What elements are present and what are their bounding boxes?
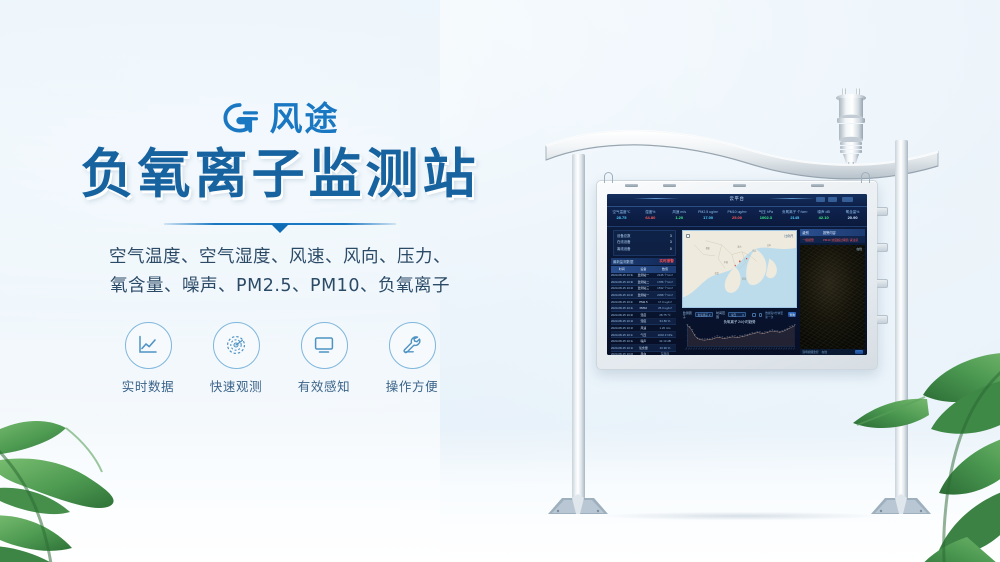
svg-text:07:00: 07:00 <box>720 347 723 351</box>
cell-time: 2023-08-15 10:32:10 <box>611 273 633 277</box>
cell-device: 氧含量 <box>633 346 655 350</box>
kpi-value: 1002.3 <box>751 215 780 221</box>
svg-text:15:00: 15:00 <box>760 347 763 351</box>
factor-select-value: 负氧离子 <box>698 313 709 317</box>
svg-text:03:00: 03:00 <box>700 347 703 351</box>
wave-canopy <box>542 122 942 184</box>
hanger-ring-left <box>604 172 613 183</box>
cell-time: 2023-08-15 10:08:10 <box>611 352 633 355</box>
view-toggle-icon[interactable] <box>752 313 756 317</box>
svg-text:16:00: 16:00 <box>765 347 768 351</box>
svg-text:1010: 1010 <box>734 335 736 337</box>
chevron-down-icon: ▾ <box>742 313 743 317</box>
display-screen[interactable]: 云平台 空气温度℃ 28.75 湿度% <box>607 194 867 355</box>
control-label-factor: 监测因子 <box>683 311 692 319</box>
kpi-item: 湿度% 64.80 <box>636 207 665 226</box>
cell-value: 东南风 <box>654 352 676 355</box>
svg-text:12:00: 12:00 <box>745 347 748 351</box>
svg-text:14:00: 14:00 <box>755 347 758 351</box>
svg-text:11:30: 11:30 <box>743 347 746 351</box>
svg-text:07:30: 07:30 <box>723 347 726 351</box>
cell-device: 气压 <box>633 333 655 337</box>
header-decoration-right <box>769 198 815 199</box>
table-row[interactable]: 2023-08-15 10:18:10 湿度 64.80 % <box>611 319 676 326</box>
svg-text:18:00: 18:00 <box>775 347 778 351</box>
svg-text:960: 960 <box>719 336 721 338</box>
dashboard-body: 设备总数 3 在线设备 3 离线设备 0 <box>607 227 867 355</box>
svg-text:13:30: 13:30 <box>753 347 756 351</box>
svg-text:1700: 1700 <box>771 329 773 331</box>
hanger-ring-right <box>861 172 870 183</box>
svg-text:15:30: 15:30 <box>763 347 766 351</box>
cell-time: 2023-08-15 10:30:10 <box>611 280 633 284</box>
svg-text:860: 860 <box>697 336 699 338</box>
table-row[interactable]: 2023-08-15 10:10:10 氧含量 20.90 % <box>611 345 676 352</box>
kpi-value: 17.00 <box>694 215 723 221</box>
cell-time: 2023-08-15 10:14:10 <box>611 333 633 337</box>
control-note: 数据每5分钟更新一次 <box>765 311 785 319</box>
cell-value: 42.10 dB <box>654 339 676 343</box>
cell-value: 20.90 % <box>654 346 676 350</box>
wrench-icon <box>400 333 424 357</box>
cell-time: 2023-08-15 10:20:10 <box>611 313 633 317</box>
dashboard: 云平台 空气温度℃ 28.75 湿度% <box>607 194 867 355</box>
dashboard-title: 云平台 <box>730 196 745 202</box>
cell-device: 噪声 <box>633 339 655 343</box>
svg-text:1660: 1660 <box>774 329 776 331</box>
svg-text:2280: 2280 <box>794 324 796 326</box>
factor-select[interactable]: 负氧离子 ▾ <box>695 312 713 318</box>
foliage-right <box>827 337 1000 562</box>
alert-content: PM10 浓度超过阈值 请注意 <box>823 238 858 242</box>
brand-name: 风途 <box>270 102 340 135</box>
map-scale-label: 比例尺 <box>784 234 793 238</box>
table-header-cell: 设备 <box>633 267 655 271</box>
svg-text:1600: 1600 <box>776 330 778 332</box>
svg-text:12:30: 12:30 <box>748 347 751 351</box>
cell-device: 湿度 <box>633 319 655 323</box>
svg-text:01:00: 01:00 <box>690 347 693 351</box>
feature-label: 有效感知 <box>293 376 355 395</box>
table-caption: 最新监测数据 实时报警 <box>611 258 676 265</box>
header-decoration-left <box>633 198 679 199</box>
cell-value: 1786 个/cm³ <box>654 280 676 284</box>
kpi-value: 42.10 <box>809 215 838 221</box>
kpi-item: PM2.5 ug/m³ 17.00 <box>694 207 723 226</box>
svg-text:2100: 2100 <box>689 325 691 327</box>
cell-value: 64.80 % <box>654 319 676 323</box>
svg-text:1020: 1020 <box>716 335 718 337</box>
monitor-icon <box>312 333 336 357</box>
cell-time: 2023-08-15 10:22:10 <box>611 306 633 310</box>
trend-chart: 负氧离子 24小时趋势 2280210016801180860760700680… <box>683 319 797 353</box>
feature-icon-circle <box>213 322 260 369</box>
cell-device: 监测站二 <box>633 280 655 284</box>
cell-time: 2023-08-15 10:28:10 <box>611 286 633 290</box>
title-divider <box>164 219 396 233</box>
svg-text:05:30: 05:30 <box>713 347 716 351</box>
feature-label: 操作方便 <box>381 376 443 395</box>
cell-value: 28.75 ℃ <box>654 313 676 317</box>
side-mount-bracket <box>877 315 888 324</box>
cell-device: 风速 <box>633 326 655 330</box>
table-row[interactable]: 2023-08-15 10:24:10 PM2.5 17.0 ug/m³ <box>611 299 676 306</box>
map-layers-icon[interactable] <box>686 234 690 238</box>
feature-item-effective-sensing: 有效感知 <box>293 322 355 395</box>
table-header-cell: 时间 <box>611 267 633 271</box>
table-row[interactable]: 2023-08-15 10:28:10 监测站三 1532 个/cm³ <box>611 286 676 293</box>
cell-time: 2023-08-15 10:16:10 <box>611 326 633 330</box>
data-table: 时间 设备 数值 2023-08-15 10:32:10 监测站一 2145 个… <box>611 266 676 355</box>
feature-icon-circle <box>301 322 348 369</box>
alert-row[interactable]: 一级报警 PM10 浓度超过阈值 请注意 <box>800 236 865 243</box>
svg-text:20:30: 20:30 <box>788 347 791 351</box>
svg-text:04:30: 04:30 <box>708 347 711 351</box>
kpi-strip: 空气温度℃ 28.75 湿度% 64.80 风速 m/s 1.20 PM2. <box>607 207 867 227</box>
cell-time: 2023-08-15 10:24:10 <box>611 300 633 304</box>
svg-text:1480: 1480 <box>759 331 761 333</box>
svg-text:00:30: 00:30 <box>688 347 691 351</box>
cell-value: 1.20 m/s <box>654 326 676 330</box>
svg-text:08:30: 08:30 <box>728 347 731 351</box>
cell-time: 2023-08-15 10:26:10 <box>611 293 633 297</box>
svg-text:1040: 1040 <box>731 335 733 337</box>
kpi-value: 25.00 <box>723 215 752 221</box>
cell-device: 监测站一 <box>633 273 655 277</box>
mount-bolt <box>733 184 746 187</box>
feature-label: 快速观测 <box>205 376 267 395</box>
export-icon[interactable] <box>759 313 763 317</box>
range-select[interactable]: 今日 ▾ <box>728 312 746 318</box>
svg-text:18:30: 18:30 <box>778 347 781 351</box>
table-row[interactable]: 2023-08-15 10:32:10 监测站一 2145 个/cm³ <box>611 273 676 280</box>
svg-text:17:00: 17:00 <box>770 347 773 351</box>
svg-text:05:00: 05:00 <box>710 347 713 351</box>
mount-bolt <box>625 184 638 187</box>
wind-cloud-logo-icon <box>221 101 261 135</box>
chevron-down-icon: ▾ <box>709 313 710 317</box>
cell-device: PM10 <box>633 306 655 310</box>
table-row[interactable]: 2023-08-15 10:08:10 风向 东南风 <box>611 352 676 355</box>
brand-logo: 风途 <box>0 96 560 140</box>
dashboard-right-column: 级别 报警内容 一级报警 PM10 浓度超过阈值 请注意 在线 <box>799 227 867 355</box>
mount-bolt <box>811 184 824 187</box>
radar-scan-icon <box>224 333 248 357</box>
cell-value: 25.0 ug/m³ <box>654 306 676 310</box>
alert-header-content: 报警内容 <box>823 230 836 235</box>
stat-line: 离线设备 0 <box>617 246 672 252</box>
side-mount-bracket <box>877 207 888 216</box>
svg-text:09:00: 09:00 <box>730 347 733 351</box>
foliage-left <box>0 320 180 562</box>
svg-text:760: 760 <box>699 337 701 339</box>
chart-controls: 监测因子 负氧离子 ▾ 时间范围 今日 ▾ <box>683 311 797 318</box>
page-title: 负氧离子监测站 <box>0 146 560 203</box>
table-row[interactable]: 2023-08-15 10:12:10 噪声 42.10 dB <box>611 338 676 345</box>
svg-text:01:30: 01:30 <box>693 347 696 351</box>
svg-text:10:30: 10:30 <box>738 347 741 351</box>
table-row[interactable]: 2023-08-15 10:30:10 监测站二 1786 个/cm³ <box>611 279 676 286</box>
header-chip[interactable] <box>816 197 825 202</box>
svg-text:1680: 1680 <box>691 329 693 331</box>
table-alert-badge: 实时报警 <box>659 259 673 264</box>
china-map[interactable]: 中国 新疆 蒙古 东北 印度 南海 日本 <box>682 230 798 308</box>
cell-device: 监测站一 <box>633 293 655 297</box>
svg-text:10:00: 10:00 <box>735 347 738 351</box>
side-mount-bracket <box>877 243 888 252</box>
cell-value: 2098 个/cm³ <box>654 293 676 297</box>
stat-label: 离线设备 <box>617 246 631 252</box>
kpi-value: 20.90 <box>838 215 867 221</box>
svg-text:03:30: 03:30 <box>703 347 706 351</box>
mount-bolt <box>663 184 676 187</box>
svg-text:06:00: 06:00 <box>715 347 718 351</box>
svg-text:13:00: 13:00 <box>750 347 753 351</box>
kpi-value: 28.75 <box>607 215 636 221</box>
dashboard-left-column: 设备总数 3 在线设备 3 离线设备 0 <box>607 227 680 355</box>
alert-level: 一级报警 <box>802 238 823 242</box>
svg-text:19:00: 19:00 <box>780 347 783 351</box>
dashboard-center-column: 中国 新疆 蒙古 东北 印度 南海 日本 <box>680 227 800 355</box>
cell-value: 17.0 ug/m³ <box>654 300 676 304</box>
cell-value: 1532 个/cm³ <box>654 286 676 290</box>
svg-text:09:30: 09:30 <box>733 347 736 351</box>
subtitle-line-1: 空气温度、空气湿度、风速、风向、压力、 <box>0 243 560 271</box>
svg-text:16:30: 16:30 <box>768 347 771 351</box>
svg-text:20:00: 20:00 <box>785 347 788 351</box>
svg-text:08:00: 08:00 <box>725 347 728 351</box>
cell-time: 2023-08-15 10:10:10 <box>611 346 633 350</box>
control-label-range: 时间范围 <box>716 311 725 319</box>
device-stats-box: 设备总数 3 在线设备 3 离线设备 0 <box>613 230 676 256</box>
feature-item-fast-observation: 快速观测 <box>205 322 267 395</box>
query-button[interactable]: 查询 <box>788 312 796 318</box>
poster-stage: 风途 负氧离子监测站 空气温度、空气湿度、风速、风向、压力、 氧含量、噪声、PM… <box>0 0 1000 562</box>
svg-text:1180: 1180 <box>694 334 696 336</box>
cell-device: 风向 <box>633 352 655 355</box>
table-row[interactable]: 2023-08-15 10:26:10 监测站一 2098 个/cm³ <box>611 292 676 299</box>
svg-text:04:00: 04:00 <box>705 347 708 351</box>
query-button-label: 查询 <box>789 313 794 317</box>
kpi-item: 噪声 dB 42.10 <box>809 207 838 226</box>
table-row[interactable]: 2023-08-15 10:20:10 温度 28.75 ℃ <box>611 312 676 319</box>
kpi-item: 风速 m/s 1.20 <box>665 207 694 226</box>
divider-triangle-icon <box>271 224 289 233</box>
svg-text:1520: 1520 <box>756 331 758 333</box>
kpi-item: 空气温度℃ 28.75 <box>607 207 636 226</box>
svg-text:21:00: 21:00 <box>790 347 793 351</box>
kpi-value: 2145 <box>780 215 809 221</box>
table-row[interactable]: 2023-08-15 10:16:10 风速 1.20 m/s <box>611 325 676 332</box>
table-header-cell: 数值 <box>654 267 676 271</box>
svg-text:06:30: 06:30 <box>718 347 721 351</box>
svg-text:14:30: 14:30 <box>758 347 761 351</box>
kpi-item: 氧含量% 20.90 <box>838 207 867 226</box>
dashboard-header: 云平台 <box>607 194 867 207</box>
kpi-value: 1.20 <box>665 215 694 221</box>
kpi-item: 负氧离子 个/cm³ 2145 <box>780 207 809 226</box>
chart-title: 负氧离子 24小时趋势 <box>724 319 756 324</box>
alert-header-level: 级别 <box>802 230 823 235</box>
alert-header-row: 级别 报警内容 <box>800 229 865 236</box>
svg-text:02:00: 02:00 <box>695 347 698 351</box>
feature-icon-circle <box>389 322 436 369</box>
side-mount-bracket <box>877 279 888 288</box>
svg-text:19:30: 19:30 <box>783 347 786 351</box>
range-select-value: 今日 <box>731 313 736 317</box>
kpi-item: 气压 hPa 1002.3 <box>751 207 780 226</box>
svg-text:00:00: 00:00 <box>685 347 688 351</box>
header-chip[interactable] <box>842 197 853 202</box>
cell-value: 2145 个/cm³ <box>654 273 676 277</box>
subtitle-line-2: 氧含量、噪声、PM2.5、PM10、负氧离子 <box>0 272 560 300</box>
cell-device: 温度 <box>633 313 655 317</box>
cell-value: 1002.3 hPa <box>654 333 676 337</box>
kpi-value: 64.80 <box>636 215 665 221</box>
cell-time: 2023-08-15 10:12:10 <box>611 339 633 343</box>
cell-time: 2023-08-15 10:18:10 <box>611 319 633 323</box>
camera-label: 现场视频监控 <box>802 350 818 354</box>
cell-device: 监测站三 <box>633 286 655 290</box>
kpi-item: PM10 ug/m³ 25.00 <box>723 207 752 226</box>
feature-item-easy-operation: 操作方便 <box>381 322 443 395</box>
stat-value: 0 <box>670 246 672 252</box>
svg-text:17:30: 17:30 <box>773 347 776 351</box>
camera-status-stamp: 在线 <box>856 247 862 251</box>
table-caption-text: 最新监测数据 <box>613 259 633 264</box>
svg-text:02:30: 02:30 <box>698 347 701 351</box>
table-row[interactable]: 2023-08-15 10:14:10 气压 1002.3 hPa <box>611 332 676 339</box>
svg-text:21:30: 21:30 <box>793 347 796 351</box>
header-chip[interactable] <box>828 197 837 202</box>
cell-device: PM2.5 <box>633 300 655 304</box>
svg-text:11:00: 11:00 <box>740 347 743 351</box>
svg-text:2280: 2280 <box>686 324 688 326</box>
support-post-left <box>572 154 585 499</box>
table-row[interactable]: 2023-08-15 10:22:10 PM10 25.0 ug/m³ <box>611 305 676 312</box>
